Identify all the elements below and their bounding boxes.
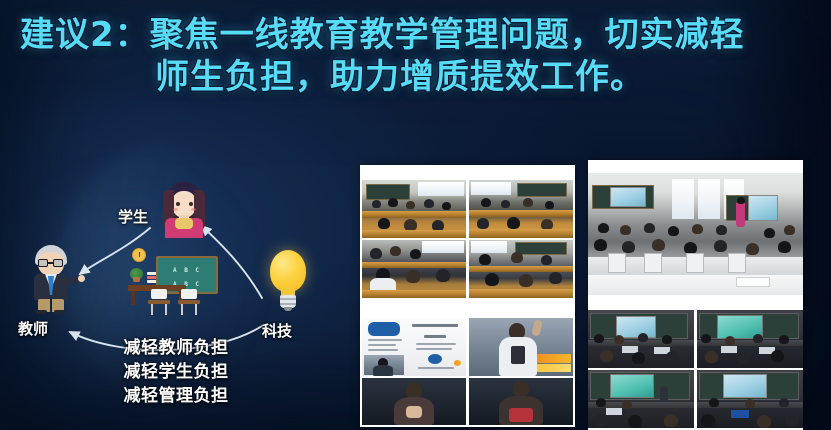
student-girl-avatar-icon [160,182,208,238]
classroom-photo-tile [362,240,466,298]
lecture-hall-projector-photo [697,370,803,428]
chair-icon [148,289,170,315]
lecture-hall-projector-photo [697,310,803,368]
lecture-hall-wide-photo [588,173,803,295]
classroom-photo-panel-right [588,160,803,430]
bullet-item: 减轻学生负担 [0,360,352,384]
classroom-photo-panel-left [360,165,575,427]
lecture-hall-projector-photo [588,310,694,368]
presentation-slide: 建议2：聚焦一线教育教学管理问题，切实减轻 师生负担，助力增质提效工作。 [0,0,831,430]
online-lecture-slide-photo [362,318,466,376]
classroom-photo-tile [469,240,573,298]
classroom-photo-tile [469,180,573,238]
clock-icon [132,248,146,262]
teacher-man-avatar-icon [28,245,74,313]
lecture-hall-projector-photo [588,370,694,428]
bullet-item: 减轻管理负担 [0,384,352,408]
classroom-scene: A B C A B C [112,242,230,324]
chair-icon [178,289,200,315]
online-lecture-participant-photo [469,378,573,425]
blackboard-text-line-1: A B C [158,266,216,276]
plant-pot-icon [133,277,140,282]
online-lecture-speaker-photo [469,318,573,376]
bullet-item: 减轻教师负担 [0,336,352,360]
lightbulb-icon [268,250,308,312]
diagram-node-label-student: 学生 [118,206,148,227]
bullet-list: 减轻教师负担 减轻学生负担 减轻管理负担 [0,336,352,408]
online-lecture-participant-photo [362,378,466,425]
classroom-photo-tile [362,180,466,238]
